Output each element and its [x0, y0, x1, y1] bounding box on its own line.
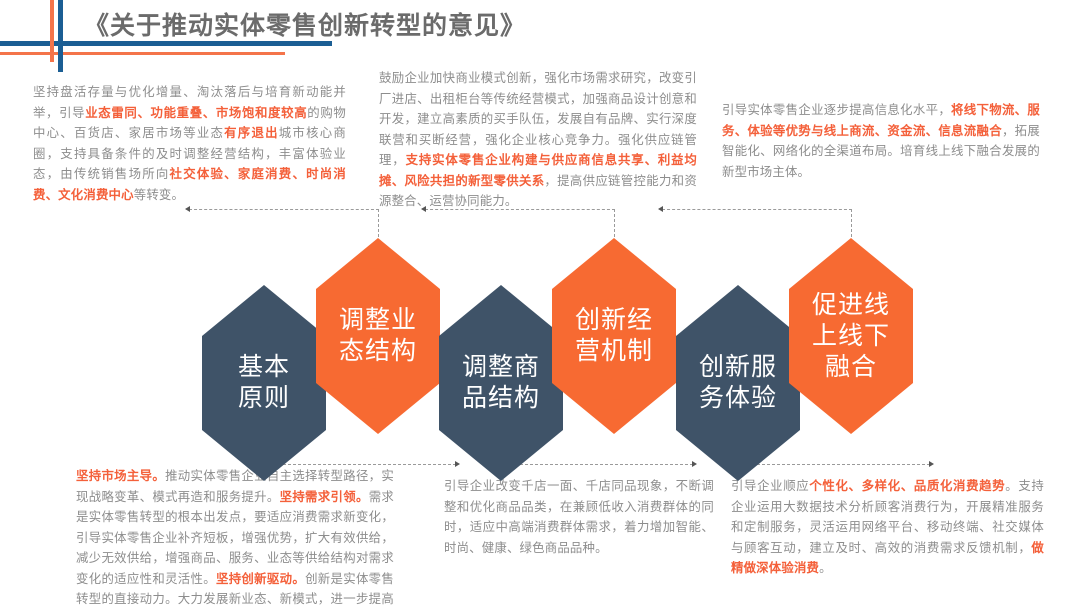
connector-top-3: [658, 209, 852, 249]
highlighted-text-run: 个性化、多样化、品质化消费趋势: [809, 479, 1005, 493]
text-run: 。: [819, 561, 832, 575]
hexagon-adjust-format-structure[interactable]: 调整业 态结构: [316, 238, 440, 434]
hexagon-label-line2: 原则: [234, 383, 294, 414]
hexagon-label-line2: 品结构: [458, 383, 544, 414]
highlighted-text-run: 有序退出: [224, 126, 279, 140]
header-orange-horizontal-rule: [0, 52, 285, 55]
text-run: 等转变。: [134, 188, 184, 202]
hexagon-label-line1: 创新经: [571, 305, 657, 336]
paragraph-top-middle: 鼓励企业加快商业模式创新，强化市场需求研究，改变引厂进店、出租柜台等传统经营模式…: [379, 68, 697, 212]
hexagon-label-line1: 调整商: [458, 352, 544, 383]
hexagon-label-line1: 促进线: [808, 290, 894, 321]
connector-top-2: [421, 209, 615, 249]
hexagon-label-line1: 创新服: [695, 352, 781, 383]
hexagon-label-line2: 营机制: [571, 336, 657, 367]
connector-top-1: [185, 209, 379, 249]
hexagon-label-line2: 上线下: [808, 321, 894, 352]
highlighted-text-run: 坚持市场主导。: [76, 469, 165, 483]
hexagon-promote-online-offline-integration[interactable]: 促进线 上线下 融合: [789, 238, 913, 434]
highlighted-text-run: 坚持创新驱动。: [216, 572, 305, 586]
highlighted-text-run: 业态雷同、功能重叠、市场饱和度较高: [85, 106, 307, 120]
text-run: 引导企业改变千店一面、千店同品现象，不断调整和优化商品品类，在兼顾低收入消费群体…: [444, 479, 714, 555]
text-run: 引导实体零售企业逐步提高信息化水平，: [722, 103, 951, 117]
text-run: 引导企业顺应: [731, 479, 809, 493]
paragraph-top-left: 坚持盘活存量与优化增量、淘汰落后与培育新动能并举，引导业态雷同、功能重叠、市场饱…: [33, 82, 346, 205]
hexagon-label-line3: 融合: [808, 352, 894, 383]
hexagon-label-line1: 调整业: [335, 305, 421, 336]
paragraph-bottom-middle: 引导企业改变千店一面、千店同品现象，不断调整和优化商品品类，在兼顾低收入消费群体…: [444, 476, 714, 558]
highlighted-text-run: 坚持需求引领。: [280, 490, 369, 504]
hexagon-label-line2: 态结构: [335, 336, 421, 367]
hexagon-innovate-operating-mechanism[interactable]: 创新经 营机制: [552, 238, 676, 434]
paragraph-bottom-right: 引导企业顺应个性化、多样化、品质化消费趋势。支持企业运用大数据技术分析顾客消费行…: [731, 476, 1044, 579]
hexagon-label-line2: 务体验: [695, 383, 781, 414]
paragraph-top-right: 引导实体零售企业逐步提高信息化水平，将线下物流、服务、体验等优势与线上商流、资金…: [722, 100, 1040, 182]
paragraph-bottom-left: 坚持市场主导。推动实体零售企业自主选择转型路径，实现战略变革、模式再造和服务提升…: [76, 466, 394, 607]
header-blue-vertical-rule: [58, 0, 63, 72]
page-title: 《关于推动实体零售创新转型的意见》: [84, 6, 526, 42]
slide-root: 《关于推动实体零售创新转型的意见》 坚持盘活存量与优化增量、淘汰落后与培育新动能…: [0, 0, 1080, 607]
hexagon-label-line1: 基本: [234, 352, 294, 383]
header-orange-vertical-rule: [50, 0, 54, 62]
